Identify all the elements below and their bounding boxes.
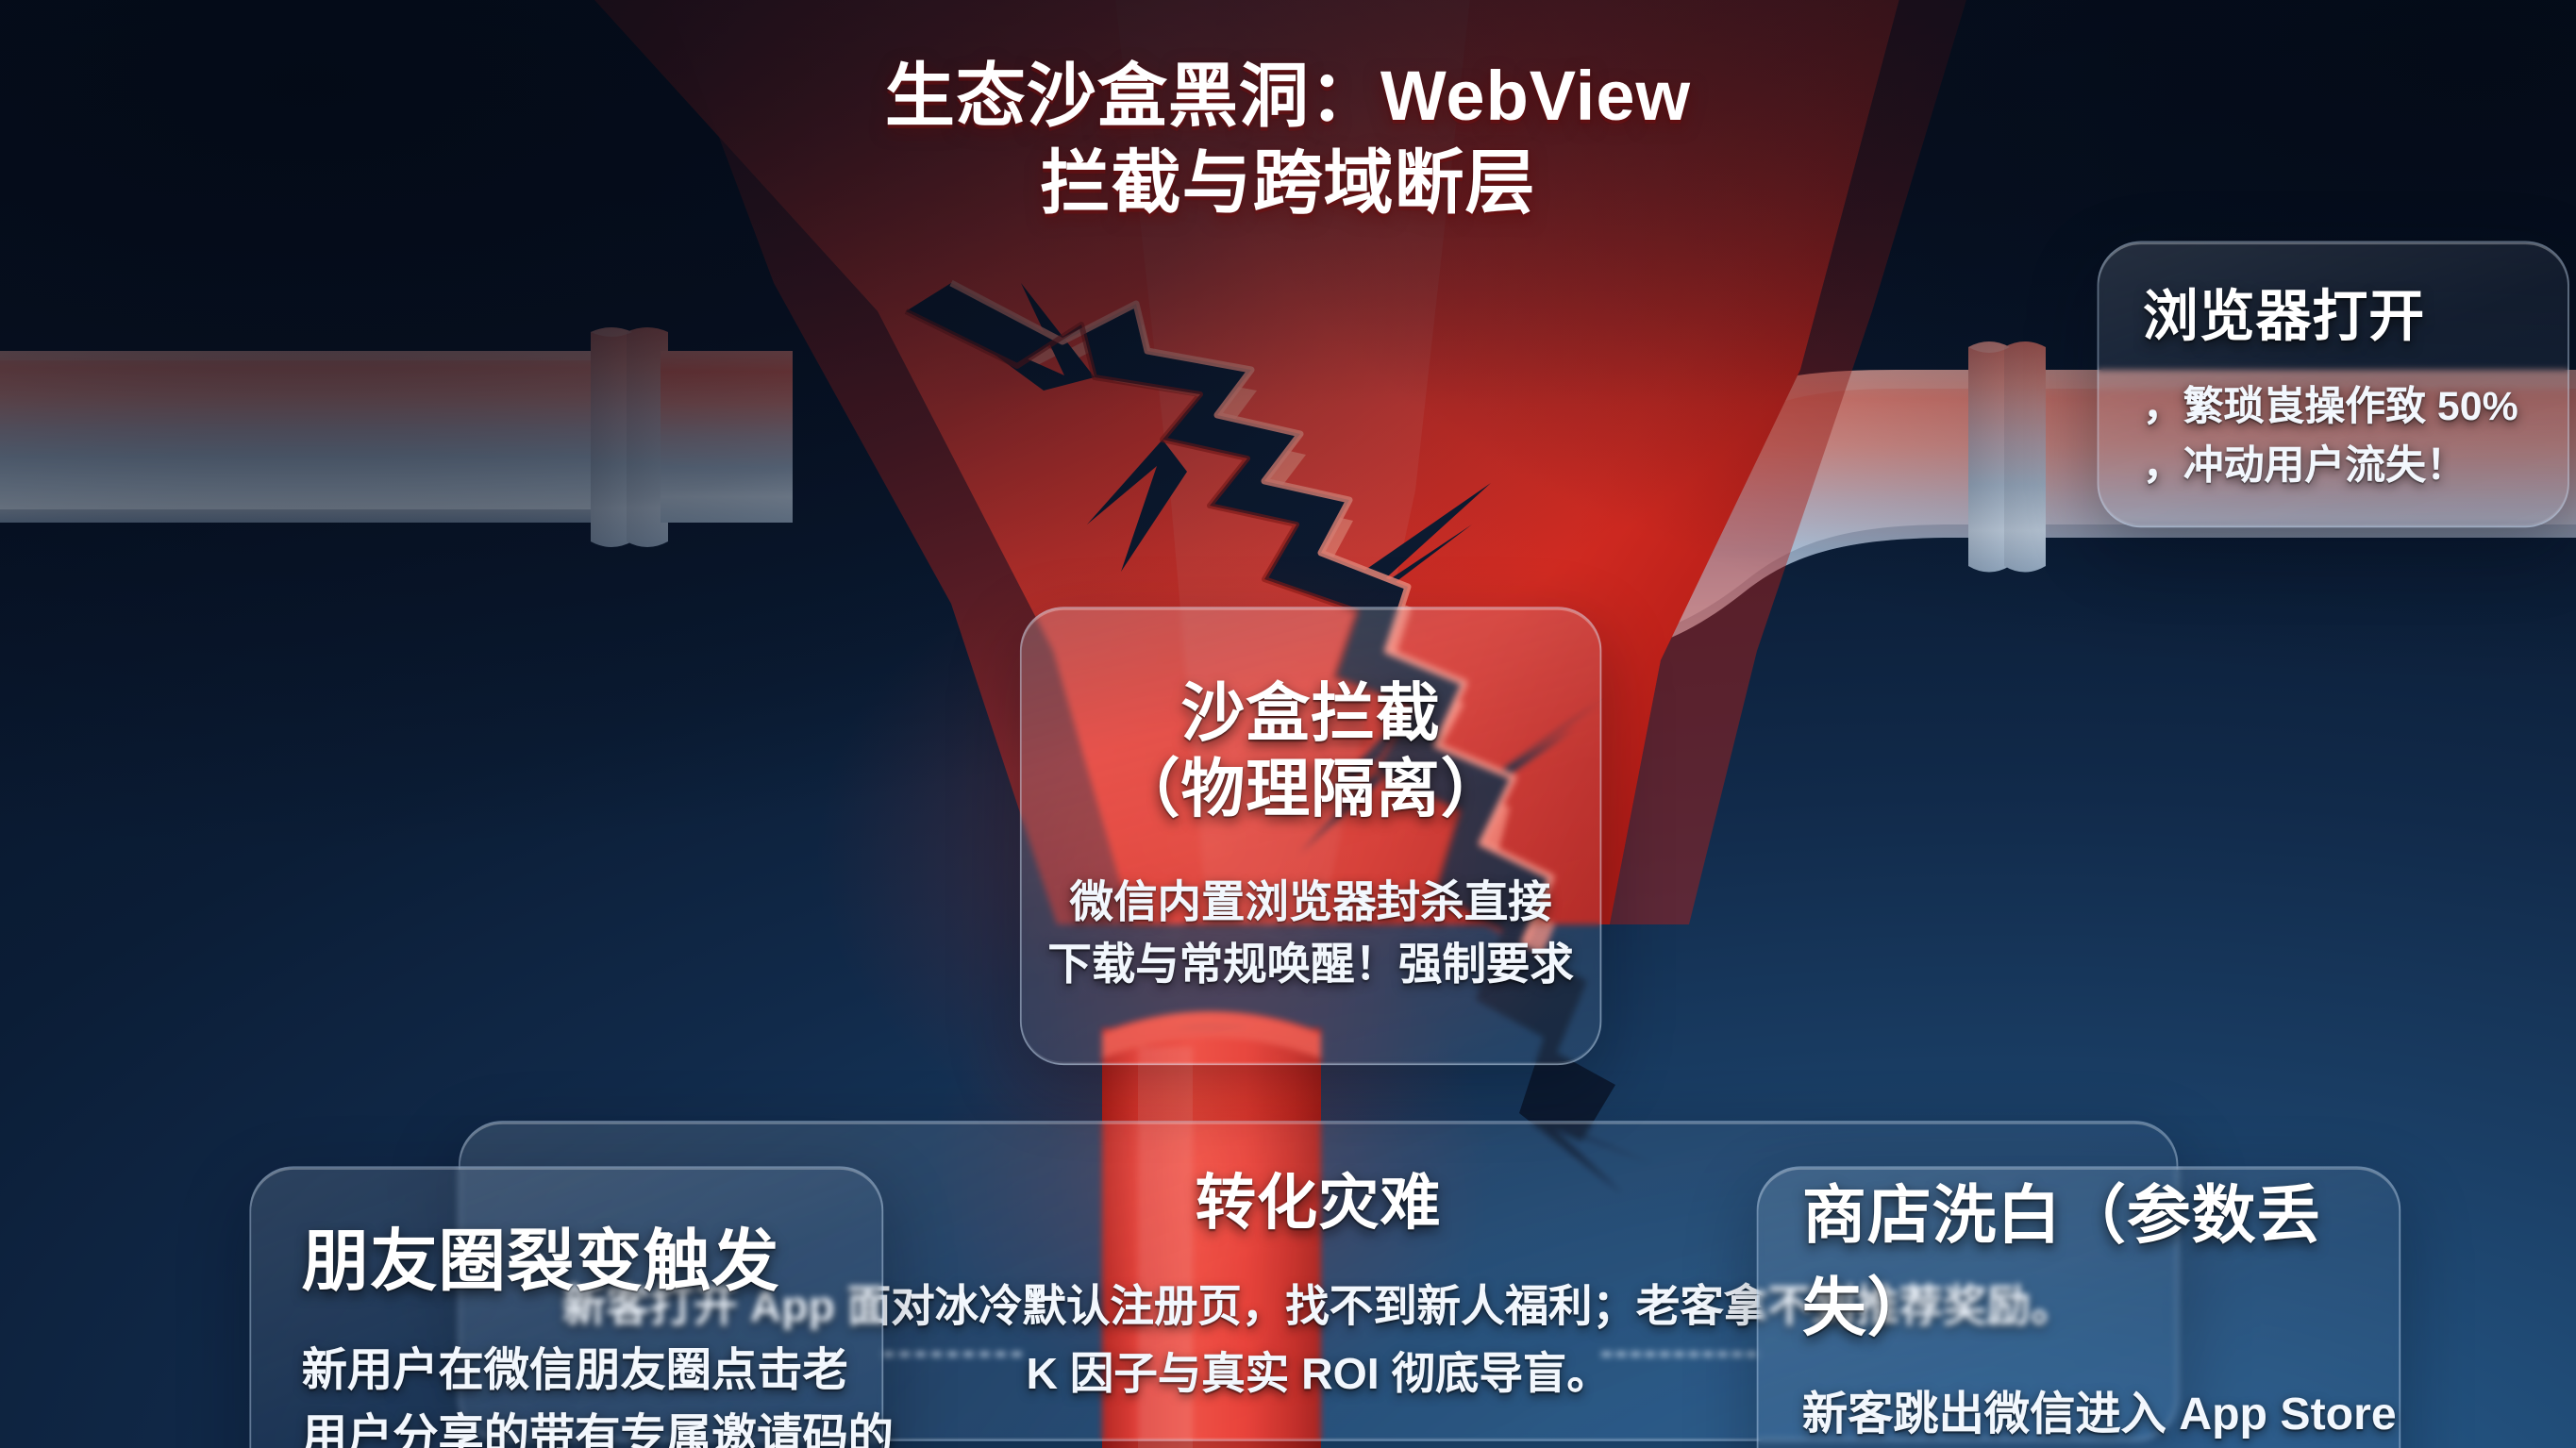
card-topright-title: 浏览器打开 xyxy=(2143,272,2524,353)
card-center-body: 微信内置浏览器封杀直接 下载与常规唤醒！强制要求 xyxy=(1047,872,1573,994)
card-topright-body-line-2: ，冲动用户流失！ xyxy=(2143,439,2524,497)
card-topright-body-line-1: ，繁琐崀操作致 50% xyxy=(2143,379,2524,438)
card-sandbox-interception[interactable]: 沙盒拦截 （物理隔离） 微信内置浏览器封杀直接 下载与常规唤醒！强制要求 xyxy=(1020,607,1601,1065)
card-center-body-line-1: 微信内置浏览器封杀直接 xyxy=(1047,872,1573,933)
card-left-body-line-2: 用户分享的带有专属邀请码的 xyxy=(302,1404,831,1448)
card-store-laundering[interactable]: 商店洗白（参数丢失） 新客跳出微信进入 App Store 漫长下载。系统机制彻… xyxy=(1757,1166,2401,1448)
card-center-title: 沙盒拦截 （物理隔离） xyxy=(1116,677,1506,828)
card-center-title-line-2: （物理隔离） xyxy=(1116,753,1506,828)
card-moments-fission-trigger[interactable]: 朋友圈裂变触发 新用户在微信朋友圈点击老 用户分享的带有专属邀请码的 H5 落地… xyxy=(249,1166,883,1448)
card-right-title: 商店洗白（参数丢失） xyxy=(1802,1163,2355,1349)
card-center-title-line-1: 沙盒拦截 xyxy=(1116,677,1506,753)
card-left-body: 新用户在微信朋友圈点击老 用户分享的带有专属邀请码的 H5 落地页。 xyxy=(302,1339,831,1448)
card-browser-open[interactable]: 浏览器打开 ，繁琐崀操作致 50% ，冲动用户流失！ xyxy=(2098,241,2569,527)
infographic-canvas: 生态沙盒黑洞：WebView 拦截与跨域断层 转化灾难 新客打开 App 面对冰… xyxy=(0,0,2576,1448)
cards-layer: 转化灾难 新客打开 App 面对冰冷默认注册页，找不到新人福利；老客拿不到推荐奖… xyxy=(0,0,2576,1448)
card-left-body-line-1: 新用户在微信朋友圈点击老 xyxy=(302,1339,831,1404)
card-left-title: 朋友圈裂变触发 xyxy=(302,1207,831,1305)
card-right-body: 新客跳出微信进入 App Store 漫长下载。系统机制彻底抹除 “等核心意图参… xyxy=(1802,1382,2355,1448)
card-topright-body: ，繁琐崀操作致 50% ，冲动用户流失！ xyxy=(2143,379,2524,496)
card-bottom-title: 转化灾难 xyxy=(1196,1154,1442,1241)
card-right-body-line-1: 新客跳出微信进入 App Store xyxy=(1802,1382,2355,1447)
card-center-body-line-2: 下载与常规唤醒！强制要求 xyxy=(1047,933,1573,994)
